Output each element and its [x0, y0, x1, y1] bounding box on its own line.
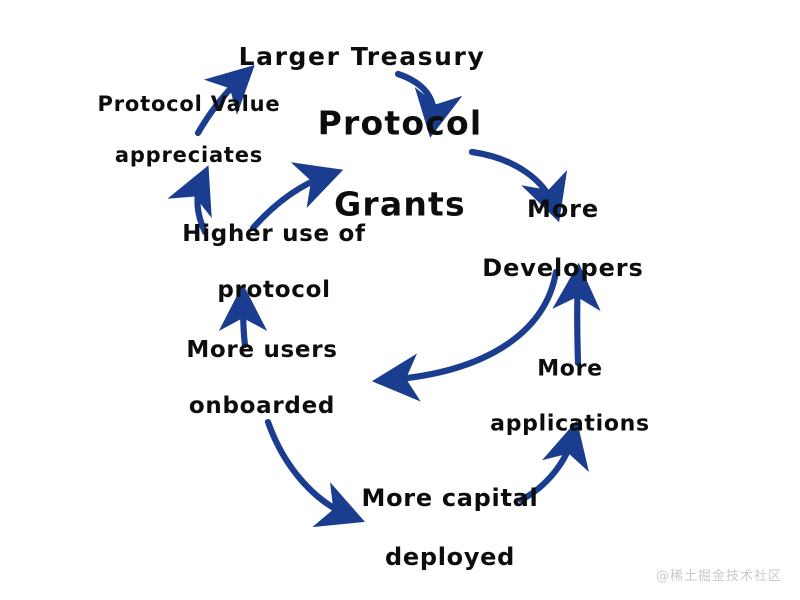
- node-label: protocol: [182, 276, 366, 304]
- diagram-canvas: Larger Treasury Protocol Grants Protocol…: [0, 0, 800, 600]
- node-label: Developers: [482, 254, 643, 283]
- node-label: More: [490, 355, 650, 383]
- node-label: deployed: [362, 543, 539, 572]
- node-label: Higher use of: [182, 220, 366, 248]
- node-label: More users: [186, 336, 337, 364]
- node-label: More capital: [362, 484, 539, 513]
- node-label: onboarded: [186, 392, 337, 420]
- node-label: Protocol Value: [98, 92, 281, 118]
- node-more-capital[interactable]: More capital deployed: [362, 455, 539, 600]
- node-more-users[interactable]: More users onboarded: [186, 308, 337, 448]
- node-label: More: [482, 195, 643, 224]
- node-more-applications[interactable]: More applications: [490, 327, 650, 465]
- watermark: @稀土掘金技术社区: [656, 565, 782, 584]
- node-more-developers[interactable]: More Developers: [482, 166, 643, 312]
- node-label: Protocol: [318, 104, 483, 144]
- node-label: applications: [490, 410, 650, 438]
- node-protocol-value[interactable]: Protocol Value appreciates: [98, 66, 281, 194]
- node-label: appreciates: [98, 143, 281, 169]
